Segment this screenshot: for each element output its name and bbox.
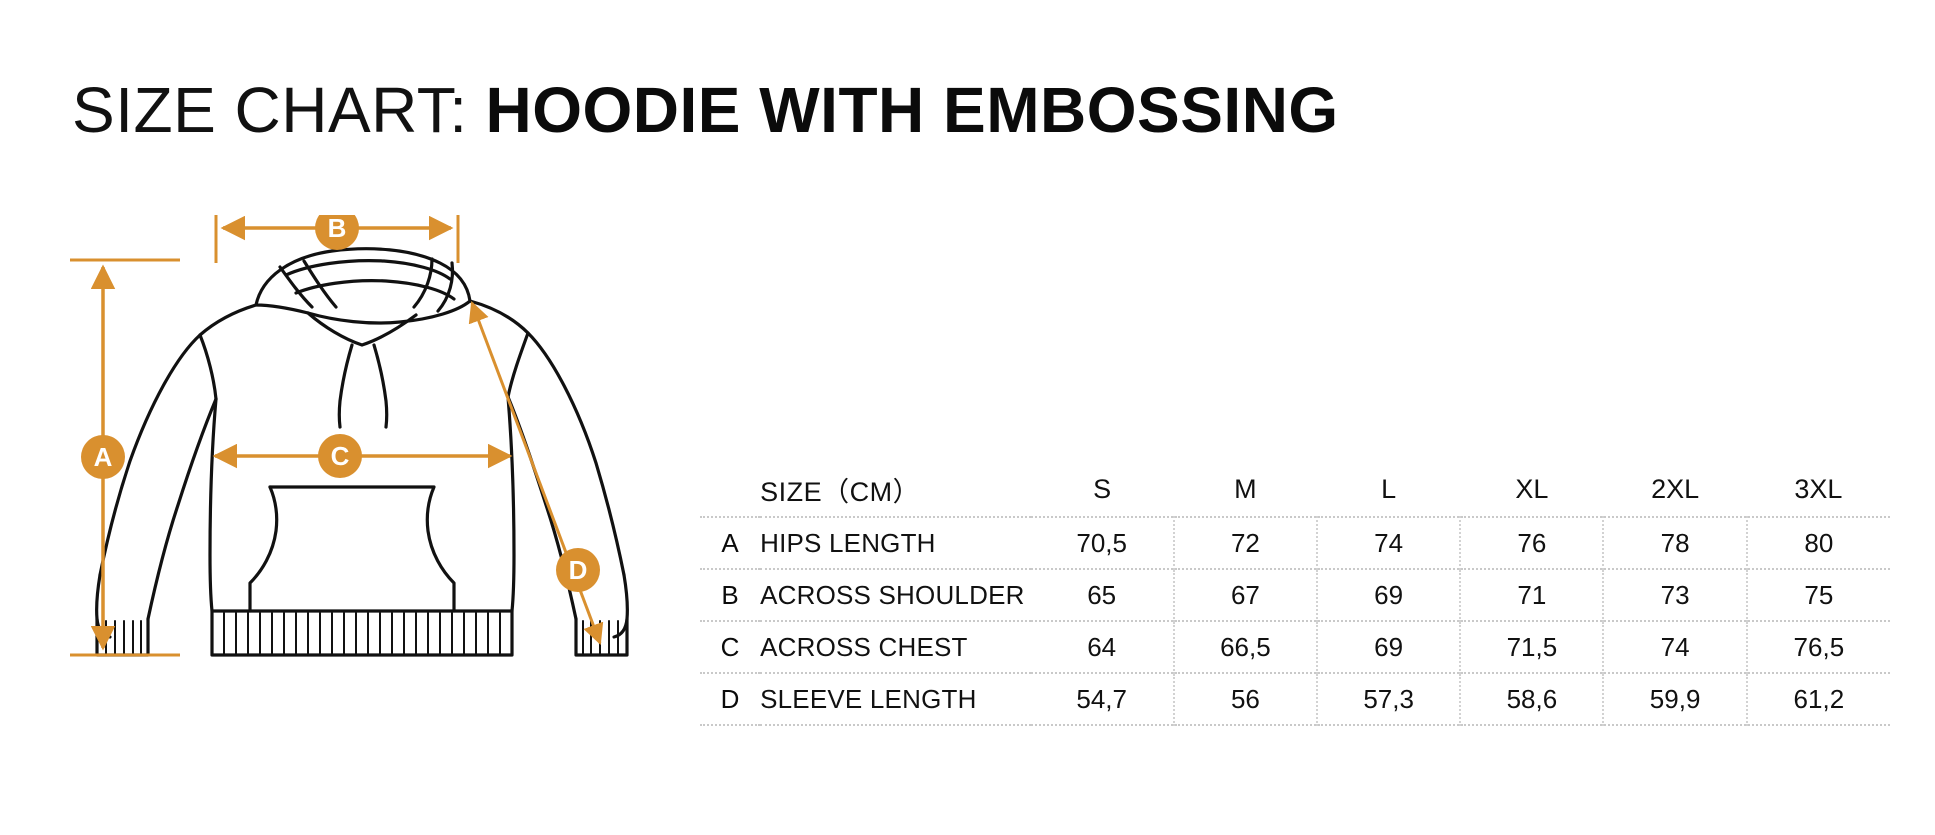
size-table-container: SIZE（CM） S M L XL 2XL 3XL A HIPS LENGTH … xyxy=(700,462,1890,726)
measure-d-label: D xyxy=(569,555,588,585)
header-size-m: M xyxy=(1174,462,1317,517)
measure-d-arrow xyxy=(472,303,600,643)
cell-b-2xl: 73 xyxy=(1603,569,1746,621)
row-key-b: B xyxy=(700,569,760,621)
table-body: A HIPS LENGTH 70,5 72 74 76 78 80 B ACRO… xyxy=(700,517,1890,725)
cell-c-3xl: 76,5 xyxy=(1747,621,1890,673)
cell-c-xl: 71,5 xyxy=(1460,621,1603,673)
measure-a-label: A xyxy=(94,442,113,472)
table-row: D SLEEVE LENGTH 54,7 56 57,3 58,6 59,9 6… xyxy=(700,673,1890,725)
cell-d-3xl: 61,2 xyxy=(1747,673,1890,725)
page-title-main: HOODIE WITH EMBOSSING xyxy=(486,74,1339,146)
header-key-spacer xyxy=(700,462,760,517)
table-row: C ACROSS CHEST 64 66,5 69 71,5 74 76,5 xyxy=(700,621,1890,673)
measure-c-group: C xyxy=(215,434,510,478)
cell-a-2xl: 78 xyxy=(1603,517,1746,569)
header-size-cm: SIZE（CM） xyxy=(760,462,1030,517)
cell-c-2xl: 74 xyxy=(1603,621,1746,673)
cell-c-l: 69 xyxy=(1317,621,1460,673)
size-chart-page: SIZE CHART:HOODIE WITH EMBOSSING xyxy=(0,0,1935,835)
table-row: A HIPS LENGTH 70,5 72 74 76 78 80 xyxy=(700,517,1890,569)
cell-d-2xl: 59,9 xyxy=(1603,673,1746,725)
hoodie-outline xyxy=(97,249,628,655)
header-size-xl: XL xyxy=(1460,462,1603,517)
cell-a-m: 72 xyxy=(1174,517,1317,569)
cell-c-m: 66,5 xyxy=(1174,621,1317,673)
header-size-2xl: 2XL xyxy=(1603,462,1746,517)
cell-d-l: 57,3 xyxy=(1317,673,1460,725)
cell-d-xl: 58,6 xyxy=(1460,673,1603,725)
cell-b-s: 65 xyxy=(1031,569,1174,621)
cell-b-xl: 71 xyxy=(1460,569,1603,621)
cell-c-s: 64 xyxy=(1031,621,1174,673)
cell-b-l: 69 xyxy=(1317,569,1460,621)
page-title-prefix: SIZE CHART: xyxy=(72,74,468,146)
row-key-d: D xyxy=(700,673,760,725)
cell-b-3xl: 75 xyxy=(1747,569,1890,621)
cell-a-l: 74 xyxy=(1317,517,1460,569)
cell-d-s: 54,7 xyxy=(1031,673,1174,725)
size-table: SIZE（CM） S M L XL 2XL 3XL A HIPS LENGTH … xyxy=(700,462,1890,726)
cell-d-m: 56 xyxy=(1174,673,1317,725)
header-size-3xl: 3XL xyxy=(1747,462,1890,517)
cell-a-xl: 76 xyxy=(1460,517,1603,569)
measure-c-label: C xyxy=(331,441,350,471)
row-label-a: HIPS LENGTH xyxy=(760,517,1030,569)
header-size-s: S xyxy=(1031,462,1174,517)
row-key-c: C xyxy=(700,621,760,673)
measure-a-group: A xyxy=(70,260,180,655)
measure-d-group: D xyxy=(472,303,600,643)
page-title: SIZE CHART:HOODIE WITH EMBOSSING xyxy=(72,78,1339,142)
row-label-c: ACROSS CHEST xyxy=(760,621,1030,673)
row-key-a: A xyxy=(700,517,760,569)
table-header-row: SIZE（CM） S M L XL 2XL 3XL xyxy=(700,462,1890,517)
cell-b-m: 67 xyxy=(1174,569,1317,621)
measurement-guides: A B C xyxy=(70,215,600,655)
header-size-l: L xyxy=(1317,462,1460,517)
cell-a-3xl: 80 xyxy=(1747,517,1890,569)
row-label-b: ACROSS SHOULDER xyxy=(760,569,1030,621)
cell-a-s: 70,5 xyxy=(1031,517,1174,569)
measure-b-label: B xyxy=(328,215,347,243)
table-row: B ACROSS SHOULDER 65 67 69 71 73 75 xyxy=(700,569,1890,621)
hoodie-diagram: A B C xyxy=(40,215,680,775)
row-label-d: SLEEVE LENGTH xyxy=(760,673,1030,725)
